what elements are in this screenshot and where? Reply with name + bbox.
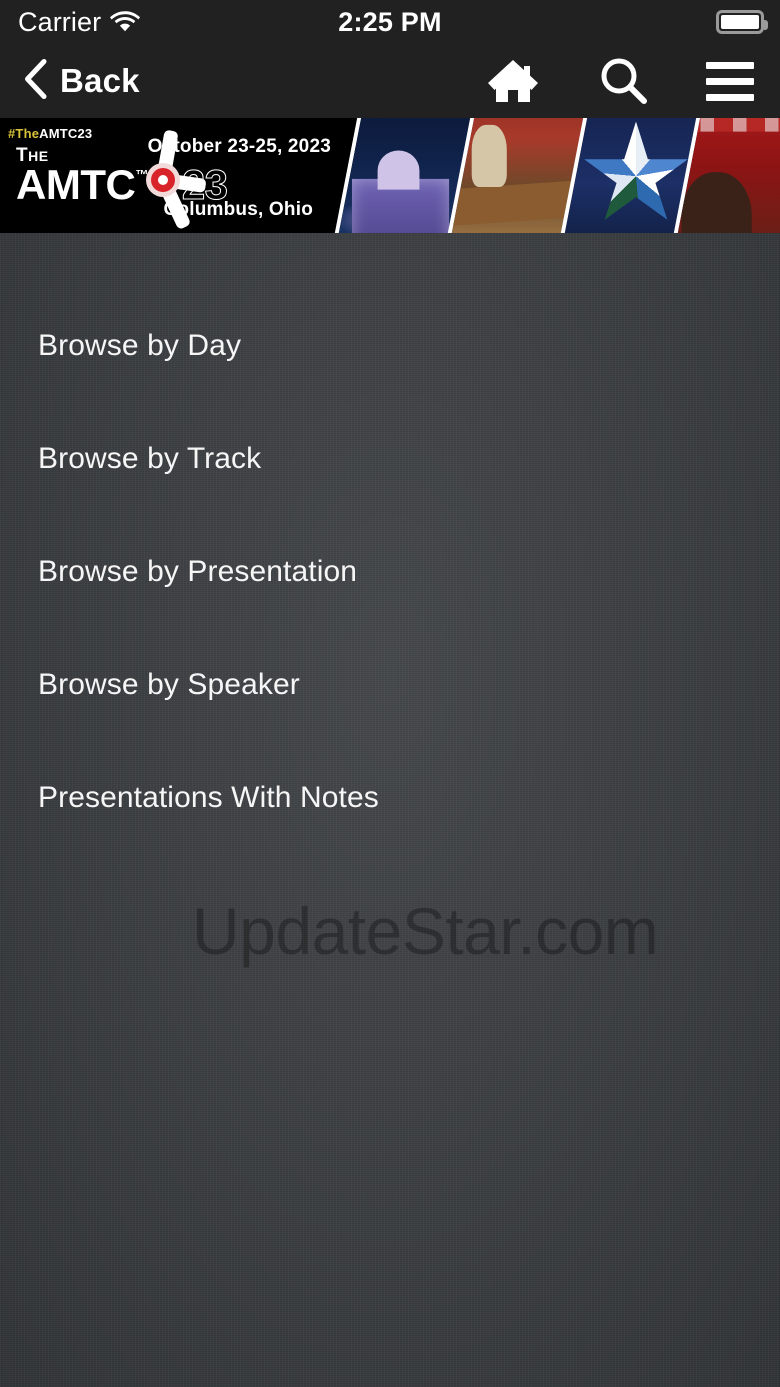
menu-item-browse-by-track[interactable]: Browse by Track <box>0 402 780 515</box>
battery-fill <box>721 15 759 29</box>
navigation-bar: Back <box>0 44 780 118</box>
hamburger-line <box>706 94 754 101</box>
banner-logo-area: #TheAMTC23 THE AMTC ™ 23 October 23-25, … <box>0 118 345 233</box>
status-bar: Carrier 2:25 PM <box>0 0 780 44</box>
main-content: Browse by Day Browse by Track Browse by … <box>0 233 780 1387</box>
status-bar-time: 2:25 PM <box>0 0 780 44</box>
status-bar-right <box>716 0 764 44</box>
hamburger-line <box>706 78 754 85</box>
chevron-left-icon <box>22 58 48 105</box>
menu-item-presentations-with-notes[interactable]: Presentations With Notes <box>0 741 780 854</box>
back-button-label: Back <box>60 62 140 100</box>
menu-item-browse-by-day[interactable]: Browse by Day <box>0 289 780 402</box>
hamburger-menu-icon[interactable] <box>706 62 754 101</box>
hamburger-line <box>706 62 754 69</box>
watermark: UpdateStar.com <box>192 893 658 969</box>
banner-location: Columbus, Ohio <box>163 199 313 221</box>
menu-item-browse-by-speaker[interactable]: Browse by Speaker <box>0 628 780 741</box>
back-button[interactable]: Back <box>22 58 140 105</box>
event-banner[interactable]: #TheAMTC23 THE AMTC ™ 23 October 23-25, … <box>0 118 780 233</box>
menu-item-browse-by-presentation[interactable]: Browse by Presentation <box>0 515 780 628</box>
menu-item-label: Browse by Speaker <box>38 670 300 700</box>
battery-nub <box>764 20 768 30</box>
banner-hashtag: #TheAMTC23 <box>8 126 92 141</box>
home-icon[interactable] <box>486 57 540 105</box>
menu-item-label: Presentations With Notes <box>38 783 379 813</box>
search-icon[interactable] <box>598 56 648 106</box>
menu-item-label: Browse by Track <box>38 444 261 474</box>
banner-photo-strip <box>340 118 780 233</box>
banner-hashtag-rest: AMTC23 <box>39 126 92 141</box>
browse-menu-list: Browse by Day Browse by Track Browse by … <box>0 233 780 854</box>
menu-item-label: Browse by Presentation <box>38 557 357 587</box>
navigation-actions <box>486 44 754 118</box>
battery-full-icon <box>716 10 764 34</box>
banner-hashtag-highlight: #The <box>8 126 39 141</box>
banner-dates: October 23-25, 2023 <box>148 136 331 158</box>
menu-item-label: Browse by Day <box>38 331 241 361</box>
